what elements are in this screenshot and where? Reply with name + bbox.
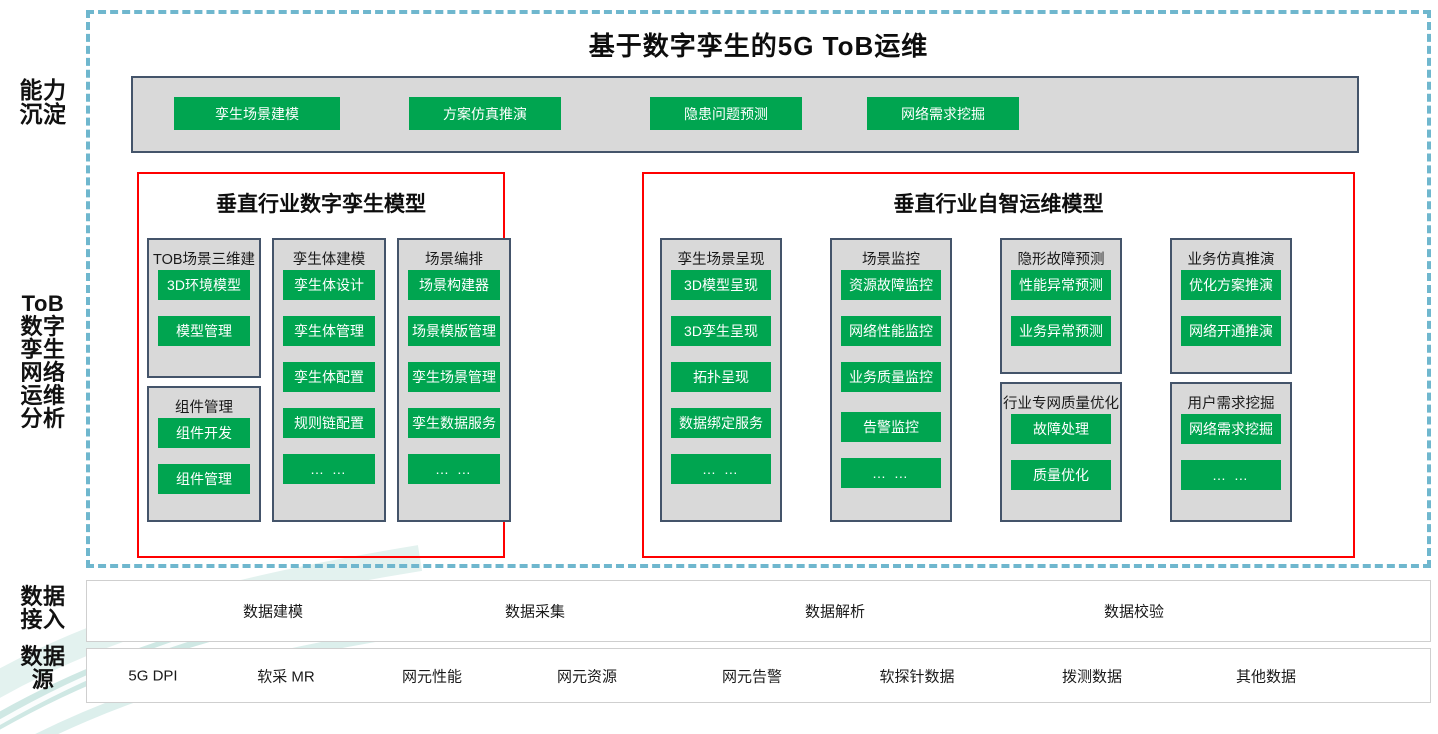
module-chip[interactable]: 模型管理 — [158, 316, 250, 346]
module-chip-more[interactable]: … … — [671, 454, 771, 484]
module-chip[interactable]: 网络开通推演 — [1181, 316, 1281, 346]
module-chip[interactable]: 组件管理 — [158, 464, 250, 494]
module-group-title: 用户需求挖掘 — [1172, 392, 1290, 413]
module-group: 场景监控资源故障监控网络性能监控业务质量监控告警监控… … — [830, 238, 952, 522]
module-group: 隐形故障预测性能异常预测业务异常预测 — [1000, 238, 1122, 374]
side-label-tob-twin-network: ToB 数字 孪生 网络 运维 分析 — [6, 292, 80, 431]
model-panel-2: 垂直行业自智运维模型孪生场景呈现3D模型呈现3D孪生呈现拓扑呈现数据绑定服务… … — [642, 172, 1355, 558]
capability-chip-1[interactable]: 孪生场景建模 — [174, 97, 340, 130]
data-source-item-8[interactable]: 其他数据 — [1236, 665, 1296, 686]
module-chip-more[interactable]: … … — [283, 454, 375, 484]
module-chip[interactable]: 质量优化 — [1011, 460, 1111, 490]
data-source-item-1[interactable]: 5G DPI — [128, 667, 177, 684]
data-access-item-3[interactable]: 数据解析 — [805, 601, 865, 622]
module-chip-more[interactable]: … … — [408, 454, 500, 484]
module-chip[interactable]: 场景构建器 — [408, 270, 500, 300]
data-source-band: 5G DPI软采 MR网元性能网元资源网元告警软探针数据拨测数据其他数据 — [86, 648, 1431, 703]
module-chip[interactable]: 告警监控 — [841, 412, 941, 442]
module-chip[interactable]: 网络需求挖掘 — [1181, 414, 1281, 444]
module-chip[interactable]: 资源故障监控 — [841, 270, 941, 300]
data-access-band: 数据建模数据采集数据解析数据校验 — [86, 580, 1431, 642]
module-group: 孪生体建模孪生体设计孪生体管理孪生体配置规则链配置… … — [272, 238, 386, 522]
module-chip[interactable]: 孪生体管理 — [283, 316, 375, 346]
data-access-item-4[interactable]: 数据校验 — [1104, 601, 1164, 622]
module-chip[interactable]: 性能异常预测 — [1011, 270, 1111, 300]
data-source-item-2[interactable]: 软采 MR — [257, 665, 315, 686]
module-chip-more[interactable]: … … — [841, 458, 941, 488]
module-chip[interactable]: 孪生场景管理 — [408, 362, 500, 392]
module-chip[interactable]: 优化方案推演 — [1181, 270, 1281, 300]
module-group-title: 场景监控 — [832, 248, 950, 269]
module-chip[interactable]: 孪生数据服务 — [408, 408, 500, 438]
module-chip[interactable]: 3D环境模型 — [158, 270, 250, 300]
module-chip[interactable]: 孪生体设计 — [283, 270, 375, 300]
module-chip[interactable]: 拓扑呈现 — [671, 362, 771, 392]
model-panel-title: 垂直行业数字孪生模型 — [139, 188, 503, 218]
diagram-stage: 能力 沉淀 ToB 数字 孪生 网络 运维 分析 数据 接入 数据 源 基于数字… — [0, 0, 1438, 734]
page-title: 基于数字孪生的5G ToB运维 — [86, 26, 1431, 63]
module-group-title: 组件管理 — [149, 396, 259, 417]
data-source-item-7[interactable]: 拨测数据 — [1062, 665, 1122, 686]
data-access-item-2[interactable]: 数据采集 — [505, 601, 565, 622]
data-source-item-3[interactable]: 网元性能 — [402, 665, 462, 686]
module-chip[interactable]: 故障处理 — [1011, 414, 1111, 444]
module-group-title: 场景编排 — [399, 248, 509, 269]
module-group: 组件管理组件开发组件管理 — [147, 386, 261, 522]
module-group-title: 业务仿真推演 — [1172, 248, 1290, 269]
module-chip[interactable]: 3D孪生呈现 — [671, 316, 771, 346]
data-source-item-4[interactable]: 网元资源 — [557, 665, 617, 686]
module-chip[interactable]: 业务异常预测 — [1011, 316, 1111, 346]
module-group: TOB场景三维建模3D环境模型模型管理 — [147, 238, 261, 378]
data-access-item-1[interactable]: 数据建模 — [243, 601, 303, 622]
module-chip[interactable]: 3D模型呈现 — [671, 270, 771, 300]
module-chip[interactable]: 网络性能监控 — [841, 316, 941, 346]
module-group-title: 行业专网质量优化 — [1002, 392, 1120, 413]
module-chip[interactable]: 规则链配置 — [283, 408, 375, 438]
module-group-title: 孪生场景呈现 — [662, 248, 780, 269]
data-source-item-6[interactable]: 软探针数据 — [879, 665, 954, 686]
capability-chip-2[interactable]: 方案仿真推演 — [409, 97, 561, 130]
module-group: 场景编排场景构建器场景模版管理孪生场景管理孪生数据服务… … — [397, 238, 511, 522]
capability-chip-3[interactable]: 隐患问题预测 — [650, 97, 802, 130]
data-source-item-5[interactable]: 网元告警 — [722, 665, 782, 686]
module-chip[interactable]: 组件开发 — [158, 418, 250, 448]
module-chip[interactable]: 孪生体配置 — [283, 362, 375, 392]
side-label-data-access: 数据 接入 — [8, 585, 78, 631]
module-group: 用户需求挖掘网络需求挖掘… … — [1170, 382, 1292, 522]
module-group-title: 隐形故障预测 — [1002, 248, 1120, 269]
model-panel-1: 垂直行业数字孪生模型TOB场景三维建模3D环境模型模型管理组件管理组件开发组件管… — [137, 172, 505, 558]
capability-chip-4[interactable]: 网络需求挖掘 — [867, 97, 1019, 130]
module-group: 行业专网质量优化故障处理质量优化 — [1000, 382, 1122, 522]
model-panel-title: 垂直行业自智运维模型 — [644, 188, 1353, 218]
module-chip-more[interactable]: … … — [1181, 460, 1281, 490]
module-group: 孪生场景呈现3D模型呈现3D孪生呈现拓扑呈现数据绑定服务… … — [660, 238, 782, 522]
module-chip[interactable]: 业务质量监控 — [841, 362, 941, 392]
module-group: 业务仿真推演优化方案推演网络开通推演 — [1170, 238, 1292, 374]
module-group-title: 孪生体建模 — [274, 248, 384, 269]
side-label-data-source: 数据 源 — [8, 645, 78, 691]
module-chip[interactable]: 数据绑定服务 — [671, 408, 771, 438]
module-chip[interactable]: 场景模版管理 — [408, 316, 500, 346]
side-label-capability: 能力 沉淀 — [8, 78, 78, 126]
